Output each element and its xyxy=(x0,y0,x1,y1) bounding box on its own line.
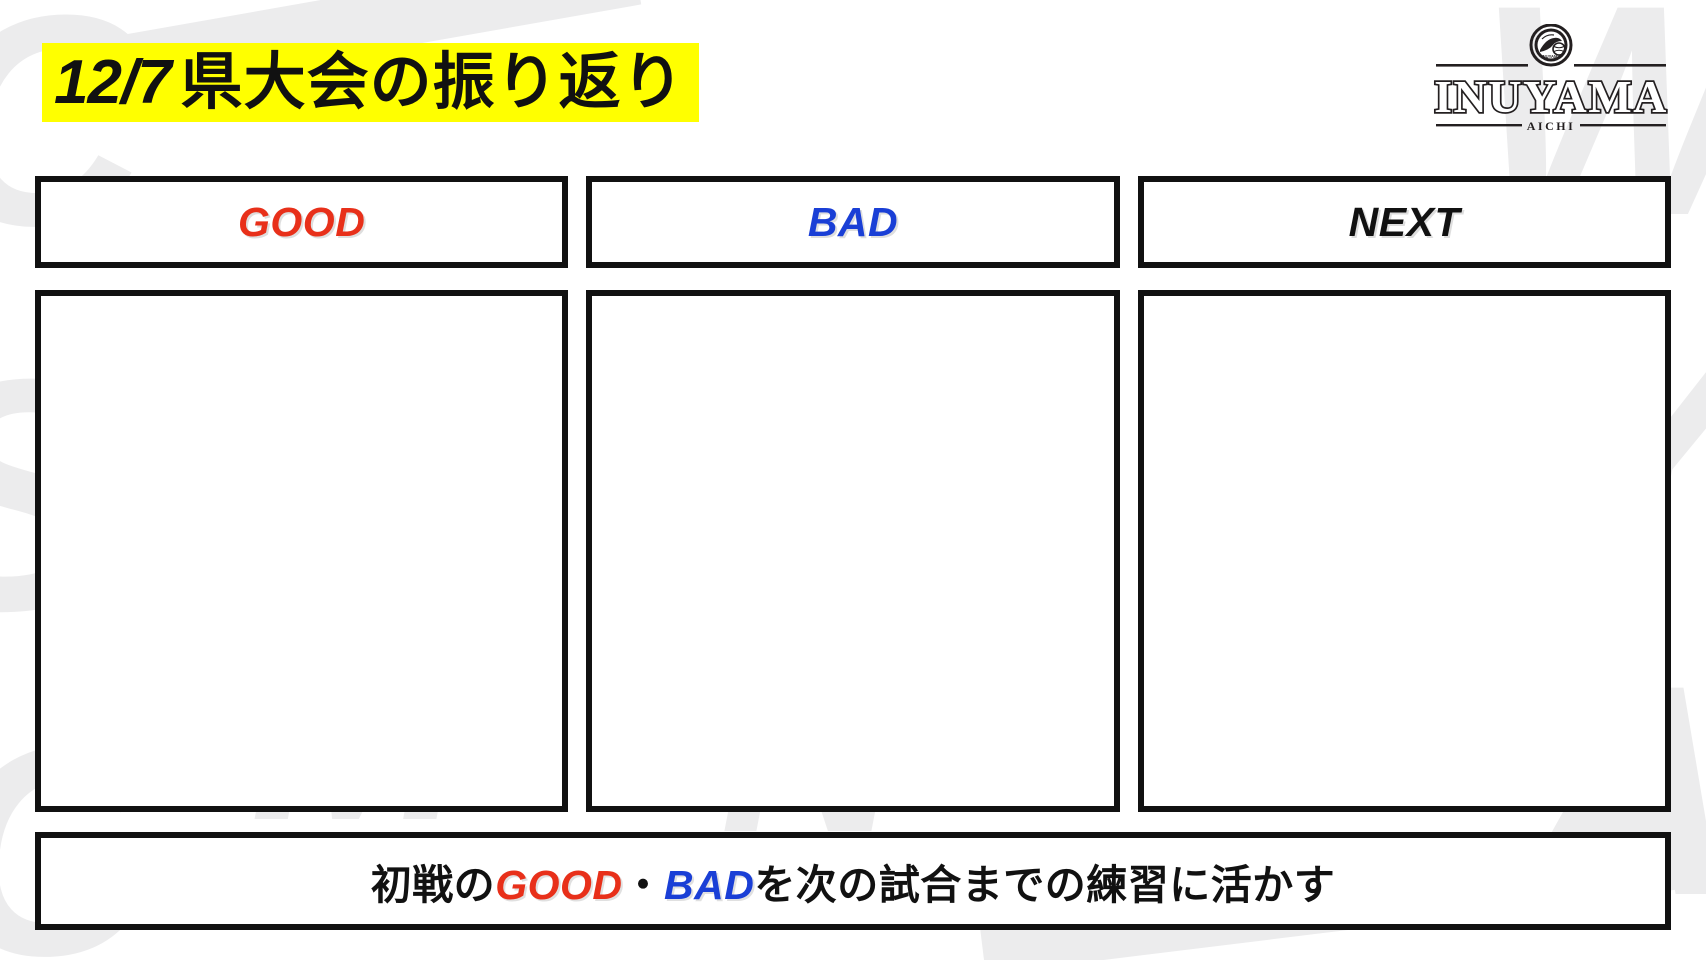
inuyama-logo: INUYAMA INUYAMA AICHI xyxy=(1432,24,1670,140)
banner-bad-emphasis: BAD xyxy=(664,862,754,908)
logo-subtitle: AICHI xyxy=(1527,119,1576,133)
column-header-good-label: GOOD xyxy=(238,199,365,246)
page-title-text: 県大会の振り返り xyxy=(181,48,685,117)
summary-banner: 初戦のGOOD・BADを次の試合までの練習に活かす xyxy=(35,832,1671,930)
column-bad: BAD xyxy=(586,176,1119,812)
column-good: GOOD xyxy=(35,176,568,812)
column-header-bad[interactable]: BAD xyxy=(586,176,1119,268)
svg-text:INUYAMA: INUYAMA xyxy=(1541,54,1560,59)
page-title-highlight: 12/7県大会の振り返り xyxy=(42,43,699,122)
summary-banner-text: 初戦のGOOD・BADを次の試合までの練習に活かす xyxy=(371,851,1336,911)
column-header-good[interactable]: GOOD xyxy=(35,176,568,268)
banner-good-emphasis: GOOD xyxy=(495,862,622,908)
column-next: NEXT xyxy=(1138,176,1671,812)
column-body-bad[interactable] xyxy=(586,290,1119,812)
logo-wordmark: INUYAMA xyxy=(1434,71,1668,122)
emblem-circle: INUYAMA xyxy=(1531,25,1571,65)
page-title-date: 12/7 xyxy=(54,48,181,117)
banner-separator: ・ xyxy=(622,862,664,908)
column-body-good[interactable] xyxy=(35,290,568,812)
page-title: 12/7県大会の振り返り xyxy=(42,43,699,122)
column-body-next[interactable] xyxy=(1138,290,1671,812)
column-header-bad-label: BAD xyxy=(808,199,898,246)
column-header-next-label: NEXT xyxy=(1349,199,1460,246)
banner-part-2: を次の試合までの練習に活かす xyxy=(754,862,1335,908)
column-header-next[interactable]: NEXT xyxy=(1138,176,1671,268)
slide-canvas: C S C W Y A M N 12/7県大会の振り返り INUYAMA xyxy=(0,0,1706,960)
column-grid: GOOD BAD NEXT xyxy=(35,176,1671,812)
banner-part-1: 初戦の xyxy=(371,862,496,908)
